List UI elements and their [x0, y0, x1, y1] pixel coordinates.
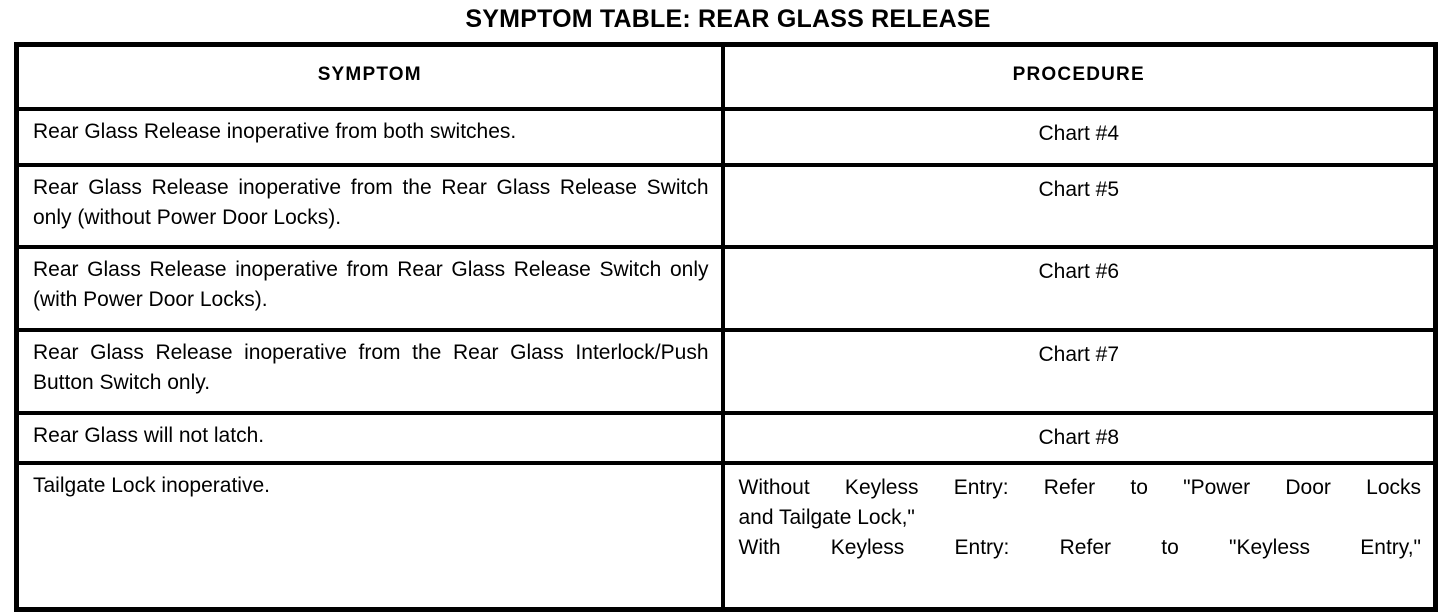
procedure-line: and Tailgate Lock,": [739, 503, 1422, 533]
procedure-cell: Chart #6: [723, 247, 1436, 330]
procedure-text: Without Keyless Entry: Refer to "Power D…: [725, 465, 1434, 571]
page-title: SYMPTOM TABLE: REAR GLASS RELEASE: [0, 2, 1456, 36]
procedure-text: Chart #6: [725, 249, 1434, 295]
procedure-text: Chart #4: [725, 111, 1434, 157]
symptom-text: Rear Glass Release inoperative from Rear…: [19, 249, 721, 323]
symptom-text: Rear Glass Release inoperative from the …: [19, 167, 721, 241]
symptom-cell: Tailgate Lock inoperative.: [17, 463, 723, 610]
procedure-cell: Chart #8: [723, 413, 1436, 463]
table-row: Rear Glass Release inoperative from Rear…: [17, 247, 1436, 330]
column-header-procedure: PROCEDURE: [725, 47, 1434, 86]
symptom-text: Tailgate Lock inoperative.: [19, 465, 721, 509]
symptom-cell: Rear Glass Release inoperative from both…: [17, 109, 723, 165]
column-header-symptom: SYMPTOM: [19, 47, 721, 86]
procedure-cell: Chart #5: [723, 165, 1436, 247]
symptom-cell: Rear Glass Release inoperative from the …: [17, 165, 723, 247]
procedure-cell: Chart #4: [723, 109, 1436, 165]
symptom-cell: Rear Glass will not latch.: [17, 413, 723, 463]
procedure-text: Chart #7: [725, 332, 1434, 378]
procedure-cell: Chart #7: [723, 330, 1436, 413]
table-row: Rear Glass Release inoperative from the …: [17, 330, 1436, 413]
symptom-text: Rear Glass Release inoperative from both…: [19, 111, 721, 155]
table-row: Rear Glass Release inoperative from the …: [17, 165, 1436, 247]
procedure-line: Without Keyless Entry: Refer to "Power D…: [739, 473, 1422, 503]
table-row: Rear Glass will not latch. Chart #8: [17, 413, 1436, 463]
table-row: Rear Glass Release inoperative from both…: [17, 109, 1436, 165]
procedure-line: With Keyless Entry: Refer to "Keyless En…: [739, 533, 1422, 563]
symptom-cell: Rear Glass Release inoperative from Rear…: [17, 247, 723, 330]
table-header-row: SYMPTOM PROCEDURE: [17, 45, 1436, 110]
symptom-cell: Rear Glass Release inoperative from the …: [17, 330, 723, 413]
table-row: Tailgate Lock inoperative. Without Keyle…: [17, 463, 1436, 610]
header-cell-procedure: PROCEDURE: [723, 45, 1436, 110]
document-page: SYMPTOM TABLE: REAR GLASS RELEASE SYMPTO…: [0, 0, 1456, 610]
procedure-text: Chart #8: [725, 415, 1434, 461]
symptom-text: Rear Glass Release inoperative from the …: [19, 332, 721, 406]
header-cell-symptom: SYMPTOM: [17, 45, 723, 110]
symptom-table: SYMPTOM PROCEDURE Rear Glass Release ino…: [14, 42, 1438, 612]
procedure-cell: Without Keyless Entry: Refer to "Power D…: [723, 463, 1436, 610]
procedure-text: Chart #5: [725, 167, 1434, 213]
symptom-text: Rear Glass will not latch.: [19, 415, 721, 459]
